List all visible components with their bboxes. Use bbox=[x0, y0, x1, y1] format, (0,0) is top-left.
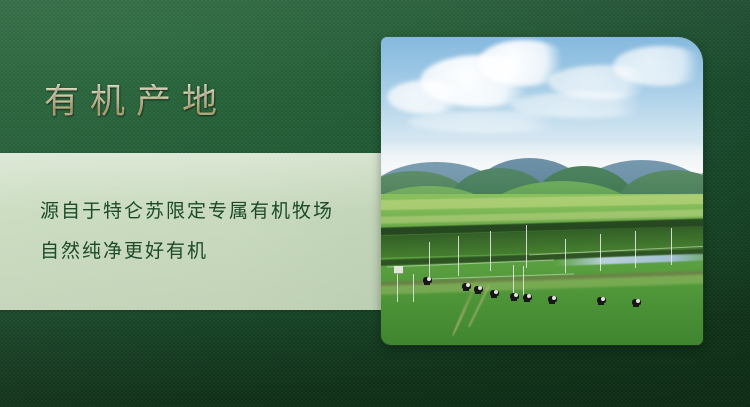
fence-post bbox=[397, 271, 398, 302]
fence-post bbox=[523, 266, 524, 297]
subtitle-line-1: 源自于特仑苏限定专属有机牧场 bbox=[40, 192, 386, 232]
utility-pole bbox=[565, 239, 566, 273]
farm-hut bbox=[394, 266, 403, 274]
cow bbox=[597, 297, 606, 303]
utility-pole bbox=[458, 236, 459, 276]
utility-pole bbox=[490, 231, 491, 271]
cloud-icon bbox=[407, 111, 577, 133]
pasture-photo bbox=[381, 37, 703, 345]
cow bbox=[523, 294, 532, 300]
fence-post bbox=[513, 265, 514, 296]
utility-pole bbox=[600, 234, 601, 271]
utility-pole bbox=[429, 242, 430, 279]
cow bbox=[510, 293, 519, 299]
subtitle-line-2: 自然纯净更好有机 bbox=[40, 232, 386, 272]
cow bbox=[462, 283, 471, 289]
cloud-icon bbox=[613, 46, 703, 86]
fence-post bbox=[413, 274, 414, 302]
utility-pole bbox=[635, 231, 636, 268]
utility-pole bbox=[526, 225, 527, 268]
cow bbox=[490, 290, 499, 296]
cow bbox=[548, 296, 557, 302]
promotional-banner: 有机产地 有机产地 源自于特仑苏限定专属有机牧场 自然纯净更好有机 bbox=[0, 0, 750, 407]
subtitle-block: 源自于特仑苏限定专属有机牧场 自然纯净更好有机 bbox=[40, 192, 386, 272]
utility-pole bbox=[671, 228, 672, 265]
cow bbox=[474, 286, 483, 292]
page-title: 有机产地 bbox=[44, 84, 228, 119]
cow bbox=[632, 299, 641, 305]
cow bbox=[423, 277, 432, 283]
